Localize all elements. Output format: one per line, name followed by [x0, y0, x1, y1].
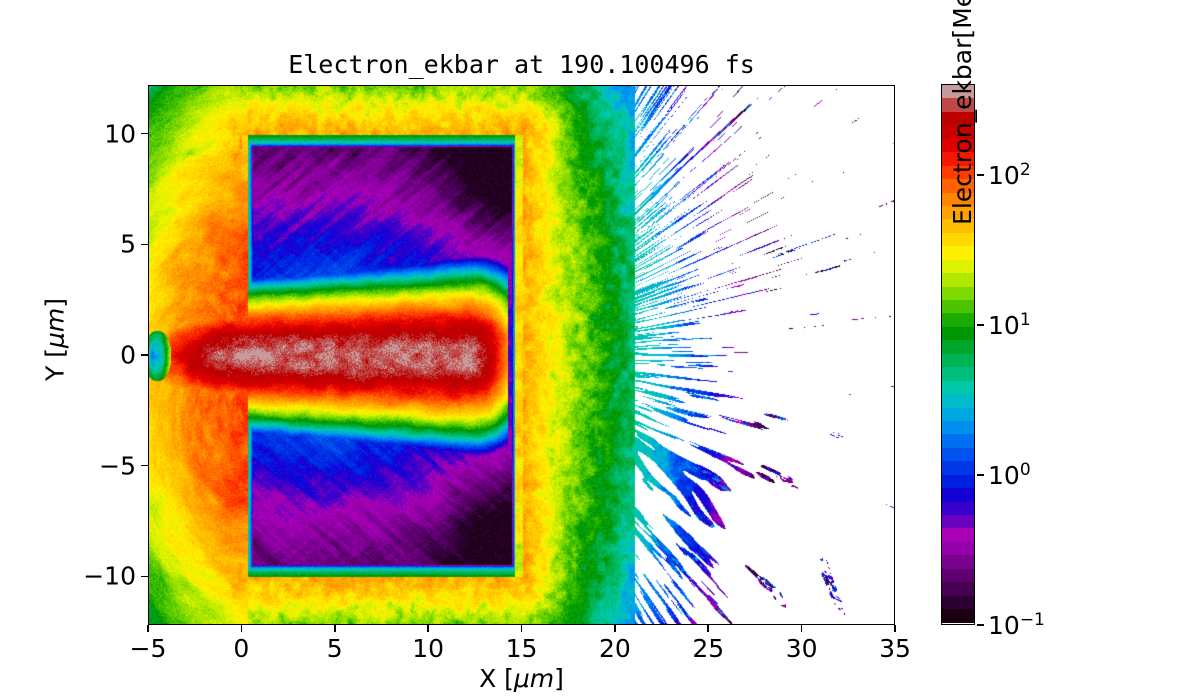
colorbar-band — [942, 394, 974, 407]
colorbar-tick-mark — [977, 474, 984, 476]
x-axis-label: X [μm] — [148, 664, 895, 693]
colorbar-label: Electron_ekbar[MeV] — [948, 0, 977, 355]
x-tick-label: 20 — [599, 634, 631, 663]
y-tick-label: 5 — [16, 230, 136, 259]
colorbar-tick-label: 10−1 — [988, 610, 1045, 640]
colorbar-band — [942, 596, 974, 609]
y-tick-label: 10 — [16, 119, 136, 148]
colorbar-band — [942, 367, 974, 380]
x-tick-label: 5 — [327, 634, 343, 663]
y-tick-label: −10 — [16, 562, 136, 591]
x-tick-mark — [801, 625, 803, 632]
y-axis-label-suffix: ] — [41, 298, 70, 308]
x-tick-label: 25 — [692, 634, 724, 663]
colorbar-band — [942, 448, 974, 461]
colorbar-band — [942, 475, 974, 488]
colorbar-tick-mark — [977, 624, 984, 626]
colorbar-band — [942, 569, 974, 582]
colorbar-tick-label: 100 — [988, 460, 1031, 490]
x-axis-label-text: X [ — [479, 664, 514, 693]
colorbar-band — [942, 555, 974, 568]
colorbar-band — [942, 461, 974, 474]
y-tick-label: 0 — [16, 341, 136, 370]
colorbar-band — [942, 354, 974, 367]
colorbar-band — [942, 528, 974, 541]
plot-axes[interactable] — [148, 85, 895, 625]
colorbar-band — [942, 609, 974, 622]
x-tick-mark — [147, 625, 149, 632]
colorbar-band — [942, 502, 974, 515]
y-tick-mark — [141, 244, 148, 246]
colorbar-band — [942, 542, 974, 555]
x-tick-mark — [241, 625, 243, 632]
x-tick-mark — [334, 625, 336, 632]
y-tick-mark — [141, 465, 148, 467]
x-tick-label: 0 — [233, 634, 249, 663]
x-tick-label: 35 — [879, 634, 911, 663]
y-axis-label-text: Y [ — [41, 348, 70, 381]
colorbar-band — [942, 488, 974, 501]
plot-title: Electron_ekbar at 190.100496 fs — [148, 50, 895, 79]
colorbar-tick-mark — [977, 174, 984, 176]
x-tick-mark — [521, 625, 523, 632]
colorbar-band — [942, 515, 974, 528]
heatmap-canvas[interactable] — [149, 86, 895, 625]
x-axis-label-suffix: ] — [554, 664, 564, 693]
y-tick-mark — [141, 354, 148, 356]
x-tick-label: −5 — [130, 634, 167, 663]
colorbar-tick-label: 101 — [988, 310, 1031, 340]
y-axis-label-unit: μm — [41, 308, 70, 348]
colorbar-tick-label: 102 — [988, 160, 1031, 190]
x-tick-label: 15 — [506, 634, 538, 663]
y-tick-label: −5 — [16, 451, 136, 480]
y-tick-mark — [141, 133, 148, 135]
colorbar-band — [942, 582, 974, 595]
x-tick-mark — [894, 625, 896, 632]
x-tick-label: 10 — [412, 634, 444, 663]
colorbar-band — [942, 408, 974, 421]
colorbar-band — [942, 381, 974, 394]
colorbar-band — [942, 434, 974, 447]
y-axis-label: Y [μm] — [41, 240, 70, 440]
x-tick-mark — [707, 625, 709, 632]
colorbar-tick-mark — [977, 324, 984, 326]
x-tick-mark — [614, 625, 616, 632]
x-axis-label-unit: μm — [514, 664, 554, 693]
x-tick-label: 30 — [786, 634, 818, 663]
colorbar-band — [942, 421, 974, 434]
y-tick-mark — [141, 576, 148, 578]
x-tick-mark — [427, 625, 429, 632]
figure-root: Electron_ekbar at 190.100496 fs −5051015… — [0, 0, 1200, 700]
